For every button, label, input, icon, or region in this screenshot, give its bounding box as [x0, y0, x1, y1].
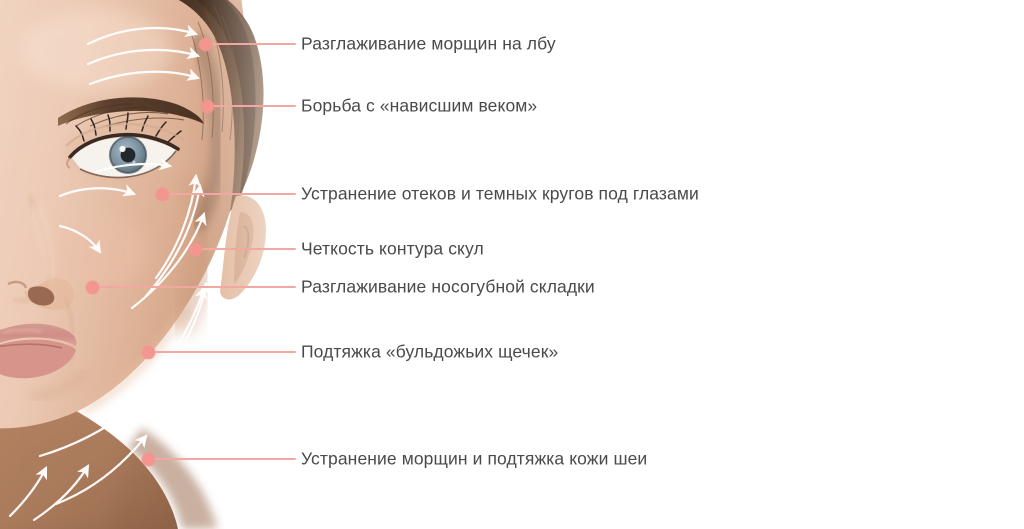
callout-cheekbone-contour[interactable]: Четкость контура скул — [301, 239, 484, 258]
callout-label-neck-wrinkles-lift: Устранение морщин и подтяжка кожи шеи — [301, 449, 647, 468]
marker-dot-cheekbone-contour[interactable] — [189, 243, 202, 256]
marker-dot-neck-wrinkles-lift[interactable] — [142, 453, 155, 466]
callout-label-under-eye-bags-circles: Устранение отеков и темных кругов под гл… — [301, 184, 699, 203]
callout-forehead-wrinkles[interactable]: Разглаживание морщин на лбу — [301, 34, 556, 53]
callout-label-nasolabial-fold: Разглаживание носогубной складки — [301, 277, 595, 296]
callout-label-hooded-eyelid: Борьба с «нависшим веком» — [301, 96, 537, 115]
callout-label-cheekbone-contour: Четкость контура скул — [301, 239, 484, 258]
leader-line-under-eye-bags-circles — [169, 193, 296, 195]
leader-line-forehead-wrinkles — [212, 43, 296, 45]
callout-label-forehead-wrinkles: Разглаживание морщин на лбу — [301, 34, 556, 53]
marker-dot-hooded-eyelid[interactable] — [201, 100, 214, 113]
leader-line-hooded-eyelid — [214, 105, 296, 107]
leader-line-bulldog-cheeks-lift — [155, 351, 296, 353]
marker-dot-under-eye-bags-circles[interactable] — [156, 188, 169, 201]
infographic-canvas: Разглаживание морщин на лбу Борьба с «на… — [0, 0, 1024, 529]
callout-under-eye-bags-circles[interactable]: Устранение отеков и темных кругов под гл… — [301, 184, 699, 203]
face-photo — [0, 0, 300, 529]
leader-line-cheekbone-contour — [202, 248, 296, 250]
callout-nasolabial-fold[interactable]: Разглаживание носогубной складки — [301, 277, 595, 296]
marker-dot-forehead-wrinkles[interactable] — [199, 38, 212, 51]
callout-label-bulldog-cheeks-lift: Подтяжка «бульдожьих щечек» — [301, 342, 558, 361]
marker-dot-bulldog-cheeks-lift[interactable] — [142, 346, 155, 359]
callout-hooded-eyelid[interactable]: Борьба с «нависшим веком» — [301, 96, 537, 115]
callout-neck-wrinkles-lift[interactable]: Устранение морщин и подтяжка кожи шеи — [301, 449, 647, 468]
callout-bulldog-cheeks-lift[interactable]: Подтяжка «бульдожьих щечек» — [301, 342, 558, 361]
leader-line-nasolabial-fold — [99, 286, 296, 288]
marker-dot-nasolabial-fold[interactable] — [86, 281, 99, 294]
leader-line-neck-wrinkles-lift — [155, 458, 296, 460]
face-illustration — [0, 0, 300, 529]
